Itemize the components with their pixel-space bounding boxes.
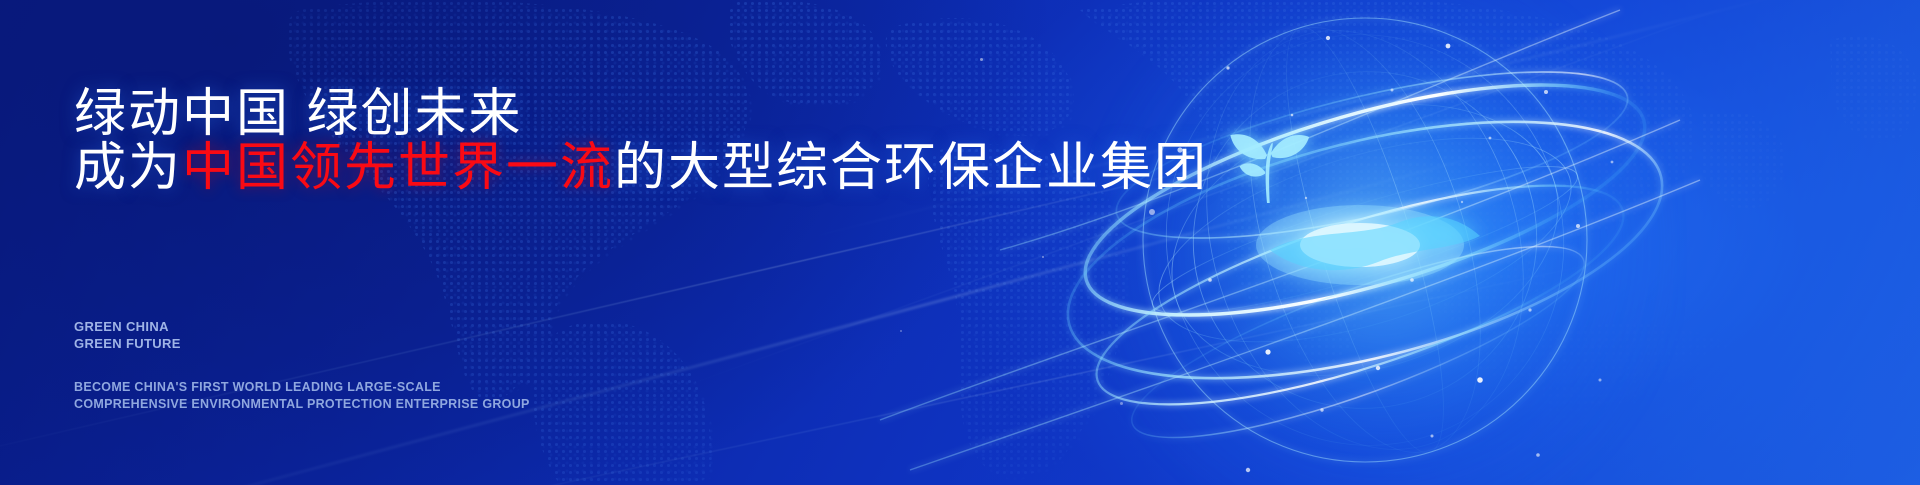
- text-block: 绿动中国 绿创未来 成为中国领先世界一流的大型综合环保企业集团 GREEN CH…: [74, 0, 1074, 485]
- headline-prefix: 成为: [74, 139, 182, 197]
- headline-line-1-text: 绿动中国 绿创未来: [74, 85, 522, 143]
- tagline-line-1: BECOME CHINA'S FIRST WORLD LEADING LARGE…: [74, 379, 530, 396]
- light-burst: [1256, 205, 1480, 285]
- tagline-english: BECOME CHINA'S FIRST WORLD LEADING LARGE…: [74, 379, 530, 412]
- subtitle-english: GREEN CHINA GREEN FUTURE: [74, 318, 181, 352]
- globe-particles: [1149, 36, 1613, 472]
- subtitle-line-2: GREEN FUTURE: [74, 335, 181, 352]
- headline-line-2: 成为中国领先世界一流的大型综合环保企业集团: [74, 142, 1208, 194]
- subtitle-line-1: GREEN CHINA: [74, 318, 181, 335]
- globe-glow: [1060, 0, 1680, 485]
- tagline-line-2: COMPREHENSIVE ENVIRONMENTAL PROTECTION E…: [74, 396, 530, 413]
- globe-wireframe: [1060, 0, 1680, 485]
- globe-graphic: [1060, 0, 1680, 485]
- sprout-seedling-icon: [1212, 115, 1322, 225]
- headline-suffix: 的大型综合环保企业集团: [614, 139, 1208, 197]
- hero-banner: 绿动中国 绿创未来 成为中国领先世界一流的大型综合环保企业集团 GREEN CH…: [0, 0, 1920, 485]
- orbit-rings: [1043, 37, 1687, 473]
- headline-highlight: 中国领先世界一流: [182, 139, 614, 197]
- headline-line-1: 绿动中国 绿创未来: [74, 88, 522, 140]
